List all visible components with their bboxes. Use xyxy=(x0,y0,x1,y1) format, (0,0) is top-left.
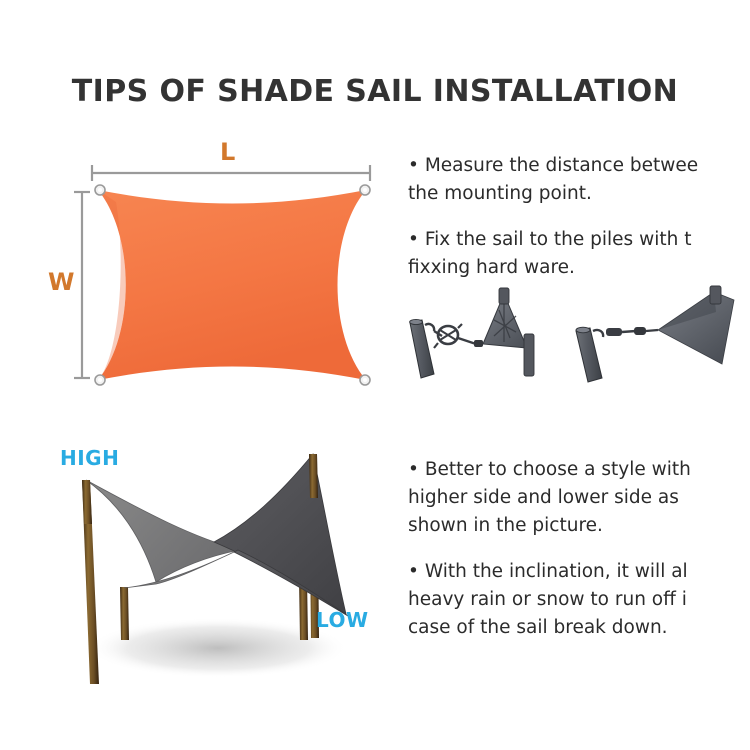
tip-text: With the inclination, it will al xyxy=(425,561,688,582)
tip-line: • Fix the sail to the piles with t xyxy=(408,226,750,254)
tension-cable xyxy=(458,338,483,347)
high-side-label: HIGH xyxy=(60,446,119,470)
tip-text: Measure the distance betwee xyxy=(425,155,698,176)
mounting-post xyxy=(410,319,434,378)
tip-line: case of the sail break down. xyxy=(408,614,750,642)
tip-line: heavy rain or snow to run off i xyxy=(408,586,750,614)
mounting-post xyxy=(576,327,602,382)
tip-line: higher side and lower side as xyxy=(408,484,750,512)
support-bars xyxy=(710,286,721,304)
tip-paragraph: • Better to choose a style with higher s… xyxy=(408,456,750,540)
sail-corner-plate xyxy=(658,292,734,364)
page-title: TIPS OF SHADE SAIL INSTALLATION xyxy=(0,74,750,109)
hardware-diagram-front xyxy=(404,286,570,384)
bullet-icon: • xyxy=(408,459,419,480)
bullet-icon: • xyxy=(408,229,419,250)
low-side-label: LOW xyxy=(316,608,369,632)
tip-line: • Measure the distance betwee xyxy=(408,152,750,180)
tip-line: • Better to choose a style with xyxy=(408,456,750,484)
hardware-diagram-side xyxy=(562,286,750,384)
bullet-icon: • xyxy=(408,561,419,582)
tip-line: shown in the picture. xyxy=(408,512,750,540)
tips-bottom-column: • Better to choose a style with higher s… xyxy=(408,456,750,646)
tip-line: • With the inclination, it will al xyxy=(408,558,750,586)
tip-paragraph: • With the inclination, it will al heavy… xyxy=(408,558,750,642)
length-label: L xyxy=(220,138,235,166)
tip-line: fixxing hard ware. xyxy=(408,254,750,282)
carabiner-icon xyxy=(593,330,603,337)
width-dimension-line xyxy=(74,192,90,378)
tip-line: the mounting point. xyxy=(408,180,750,208)
shade-sail-light xyxy=(86,480,240,582)
tip-paragraph: • Fix the sail to the piles with t fixxi… xyxy=(408,226,750,282)
shade-sail-dark xyxy=(214,454,346,614)
support-post xyxy=(120,587,129,640)
tip-text: Better to choose a style with xyxy=(425,459,691,480)
tip-paragraph: • Measure the distance betwee the mounti… xyxy=(408,152,750,208)
rectangular-sail-diagram: L W xyxy=(60,140,400,400)
bullet-icon: • xyxy=(408,155,419,176)
width-label: W xyxy=(48,268,74,296)
tip-text: Fix the sail to the piles with t xyxy=(425,229,692,250)
shade-sail-shape xyxy=(98,190,366,380)
tips-top-column: • Measure the distance betwee the mounti… xyxy=(408,152,750,284)
perspective-sail-diagram xyxy=(28,432,420,704)
length-dimension-line xyxy=(92,165,370,181)
infographic-page: TIPS OF SHADE SAIL INSTALLATION xyxy=(0,0,750,750)
turnbuckle-icon xyxy=(434,324,462,348)
turnbuckle-icon xyxy=(606,327,658,336)
